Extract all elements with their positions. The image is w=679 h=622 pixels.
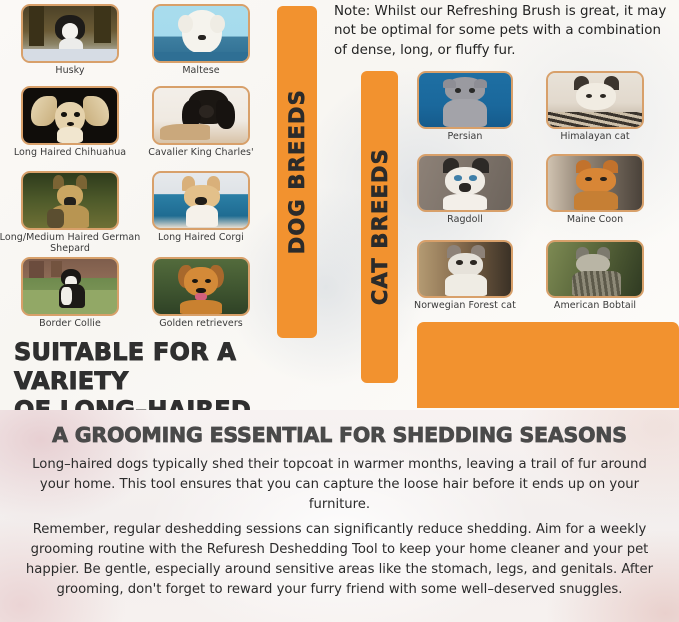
- breed-photo-persian: [417, 71, 513, 129]
- breed-photo-maltese: [152, 4, 250, 63]
- cat-breeds-banner: CAT BREEDS: [361, 71, 398, 383]
- orange-accent-block: [417, 322, 679, 408]
- headline-line-2: OF LONG–HAIRED BREEDS: [14, 396, 354, 410]
- breed-label: Norwegian Forest cat: [391, 301, 539, 312]
- breed-label: Long/Medium Haired German Shepard: [0, 233, 145, 254]
- bottom-paragraph-2: Remember, regular deshedding sessions ca…: [24, 520, 655, 600]
- photo-art: [154, 173, 248, 228]
- page-headline: SUITABLE FOR A VARIETY OF LONG–HAIRED BR…: [14, 338, 354, 410]
- breed-card-maltese: Maltese: [152, 4, 250, 63]
- breed-photo-ragdoll: [417, 154, 513, 212]
- photo-art: [419, 73, 511, 127]
- breed-card-long-haired-corgi: Long Haired Corgi: [152, 171, 250, 230]
- bottom-heading: A GROOMING ESSENTIAL FOR SHEDDING SEASON…: [0, 423, 679, 447]
- breed-label: Maltese: [126, 66, 276, 77]
- breed-photo-cavalier: [152, 86, 250, 145]
- breed-card-american-bobtail: American Bobtail: [546, 240, 644, 298]
- breed-label: Ragdoll: [391, 215, 539, 226]
- breed-photo-golden-retriever: [152, 257, 250, 316]
- photo-art: [548, 73, 642, 127]
- breed-photo-american-bobtail: [546, 240, 644, 298]
- photo-art: [23, 6, 117, 61]
- breed-card-norwegian-forest-cat: Norwegian Forest cat: [417, 240, 513, 298]
- photo-art: [154, 6, 248, 61]
- photo-art: [154, 88, 248, 143]
- photo-art: [419, 156, 511, 210]
- breed-card-ragdoll: Ragdoll: [417, 154, 513, 212]
- breed-card-husky: Husky: [21, 4, 119, 63]
- breed-label: Himalayan cat: [520, 132, 670, 143]
- breed-label: Husky: [0, 66, 145, 77]
- breed-card-border-collie: Border Collie: [21, 257, 119, 316]
- photo-art: [23, 259, 117, 314]
- breed-card-long-haired-chihuahua: Long Haired Chihuahua: [21, 86, 119, 145]
- photo-art: [23, 173, 117, 228]
- bottom-section: A GROOMING ESSENTIAL FOR SHEDDING SEASON…: [0, 410, 679, 622]
- breed-photo-maine-coon: [546, 154, 644, 212]
- breed-label: Golden retrievers: [126, 319, 276, 330]
- breed-photo-husky: [21, 4, 119, 63]
- breed-card-maine-coon: Maine Coon: [546, 154, 644, 212]
- breed-card-german-shepard: Long/Medium Haired German Shepard: [21, 171, 119, 230]
- breed-photo-german-shepard: [21, 171, 119, 230]
- breed-label: Long Haired Corgi: [126, 233, 276, 244]
- breed-photo-border-collie: [21, 257, 119, 316]
- breed-photo-himalayan: [546, 71, 644, 129]
- breed-card-cavalier-king-charles: Cavalier King Charles': [152, 86, 250, 145]
- breed-label: Cavalier King Charles': [126, 148, 276, 159]
- note-text: Note: Whilst our Refreshing Brush is gre…: [334, 2, 674, 60]
- photo-art: [154, 259, 248, 314]
- breed-label: American Bobtail: [520, 301, 670, 312]
- photo-art: [419, 242, 511, 296]
- bottom-paragraph-1: Long–haired dogs typically shed their to…: [24, 455, 655, 515]
- breed-card-himalayan-cat: Himalayan cat: [546, 71, 644, 129]
- infographic-page: Note: Whilst our Refreshing Brush is gre…: [0, 0, 679, 622]
- breed-label: Maine Coon: [520, 215, 670, 226]
- breed-card-golden-retrievers: Golden retrievers: [152, 257, 250, 316]
- breed-photo-chihuahua: [21, 86, 119, 145]
- breed-label: Persian: [391, 132, 539, 143]
- top-section: Note: Whilst our Refreshing Brush is gre…: [0, 0, 679, 410]
- dog-breeds-banner: DOG BREEDS: [277, 6, 317, 338]
- photo-art: [548, 242, 642, 296]
- breed-card-persian: Persian: [417, 71, 513, 129]
- breed-label: Long Haired Chihuahua: [0, 148, 145, 159]
- headline-line-1: SUITABLE FOR A VARIETY: [14, 338, 354, 396]
- dog-breeds-banner-label: DOG BREEDS: [285, 89, 309, 254]
- photo-art: [548, 156, 642, 210]
- breed-label: Border Collie: [0, 319, 145, 330]
- breed-photo-norwegian-forest: [417, 240, 513, 298]
- photo-art: [23, 88, 117, 143]
- cat-breeds-banner-label: CAT BREEDS: [368, 148, 392, 305]
- breed-photo-corgi: [152, 171, 250, 230]
